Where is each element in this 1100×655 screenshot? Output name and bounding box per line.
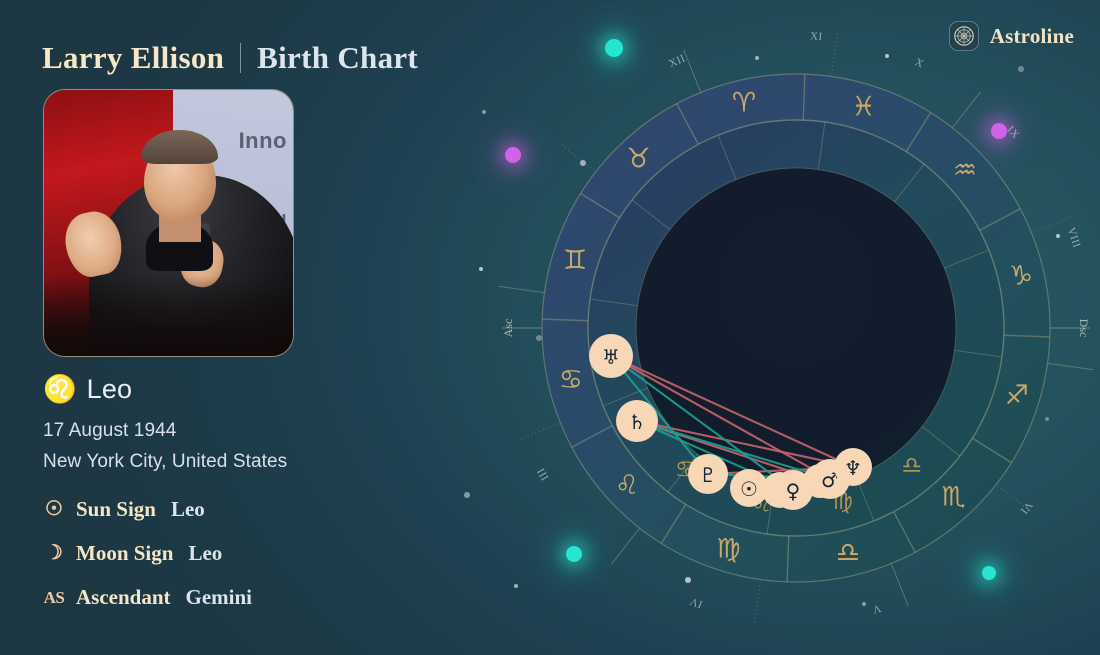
planet-token-pluto[interactable]: ♇	[688, 454, 728, 494]
zodiac-glyph-scorpio: ♏	[941, 481, 965, 512]
house-number-V: V	[871, 602, 882, 616]
zodiac-glyph-virgo: ♍	[716, 533, 740, 564]
planet-glyph-neptune: ♆	[844, 456, 862, 480]
zodiac-glyph-libra: ♎	[836, 538, 860, 569]
portrait-image: Inno Eval a	[44, 90, 293, 356]
planet-token-uranus[interactable]: ♅	[589, 334, 633, 378]
birth-chart-wheel[interactable]: ♓♒♑♐♏♎♍♌♋♊♉♈♋♌♍♎XIIXIXIXVIIIVIVIVIIIAscD…	[494, 26, 1098, 630]
fact-value-ascendant: Gemini	[186, 585, 253, 610]
fact-label-sun: Sun Sign	[76, 497, 156, 522]
moon-icon: ☽	[43, 543, 65, 563]
inner-sign-glyph-libra: ♎	[901, 453, 922, 479]
planet-glyph-sun: ☉	[740, 477, 758, 501]
fact-value-moon: Leo	[188, 541, 222, 566]
fact-list: ☉ Sun Sign Leo ☽ Moon Sign Leo AS Ascend…	[43, 497, 443, 610]
zodiac-glyph-cancer: ♋	[559, 364, 583, 395]
house-number-X: X	[913, 56, 926, 70]
person-name: Larry Ellison	[42, 40, 224, 76]
planet-glyph-pluto: ♇	[699, 463, 717, 487]
zodiac-glyph-aries: ♈	[732, 87, 756, 118]
photo-vignette	[44, 276, 293, 356]
house-number-XI: XI	[810, 30, 823, 43]
section-title: Birth Chart	[257, 40, 418, 76]
zodiac-glyph-taurus: ♉	[626, 144, 650, 175]
title-divider	[240, 43, 241, 73]
planet-glyph-uranus: ♅	[602, 345, 620, 369]
planet-token-saturn[interactable]: ♄	[616, 400, 658, 442]
slide-text-1: Inno	[239, 128, 287, 154]
zodiac-glyph-aquarius: ♒	[953, 155, 977, 186]
axis-label-dsc: Dsc	[1077, 319, 1091, 338]
birth-date: 17 August 1944	[43, 415, 443, 446]
house-number-XII: XII	[667, 52, 687, 70]
fact-sun-sign: ☉ Sun Sign Leo	[43, 497, 443, 522]
primary-sign: ♌ Leo	[43, 374, 443, 405]
star-dot	[482, 110, 486, 114]
primary-sign-name: Leo	[87, 374, 133, 405]
sun-icon: ☉	[43, 499, 65, 519]
planet-glyph-saturn: ♄	[628, 410, 646, 434]
house-number-VI: VI	[1017, 499, 1034, 516]
ascendant-icon: AS	[43, 589, 65, 606]
leo-icon: ♌	[43, 376, 77, 403]
fact-moon-sign: ☽ Moon Sign Leo	[43, 541, 443, 566]
planet-glyph-venus: ♀	[786, 479, 801, 503]
planet-token-neptune[interactable]: ♆	[834, 448, 872, 486]
zodiac-glyph-gemini: ♊	[563, 245, 587, 276]
house-number-IX: IX	[1004, 124, 1021, 141]
profile-info: ♌ Leo 17 August 1944 New York City, Unit…	[43, 374, 443, 629]
star-dot	[479, 267, 483, 271]
fact-label-ascendant: Ascendant	[76, 585, 171, 610]
fact-ascendant: AS Ascendant Gemini	[43, 585, 443, 610]
axis-label-asc: Asc	[501, 319, 515, 338]
birth-chart-page: Larry Ellison Birth Chart Astroline	[0, 0, 1100, 655]
fact-value-sun: Leo	[171, 497, 205, 522]
zodiac-glyph-sagittarius: ♐	[1005, 380, 1029, 411]
house-number-III: III	[535, 466, 552, 483]
zodiac-glyph-leo: ♌	[615, 470, 639, 501]
star-dot	[464, 492, 470, 498]
house-number-IV: IV	[688, 595, 704, 611]
page-title: Larry Ellison Birth Chart	[42, 40, 418, 76]
portrait-photo: Inno Eval a	[43, 89, 294, 357]
zodiac-glyph-capricorn: ♑	[1009, 261, 1033, 292]
birth-place: New York City, United States	[43, 446, 443, 477]
house-number-VIII: VIII	[1065, 226, 1083, 250]
zodiac-glyph-pisces: ♓	[851, 92, 875, 123]
fact-label-moon: Moon Sign	[76, 541, 173, 566]
